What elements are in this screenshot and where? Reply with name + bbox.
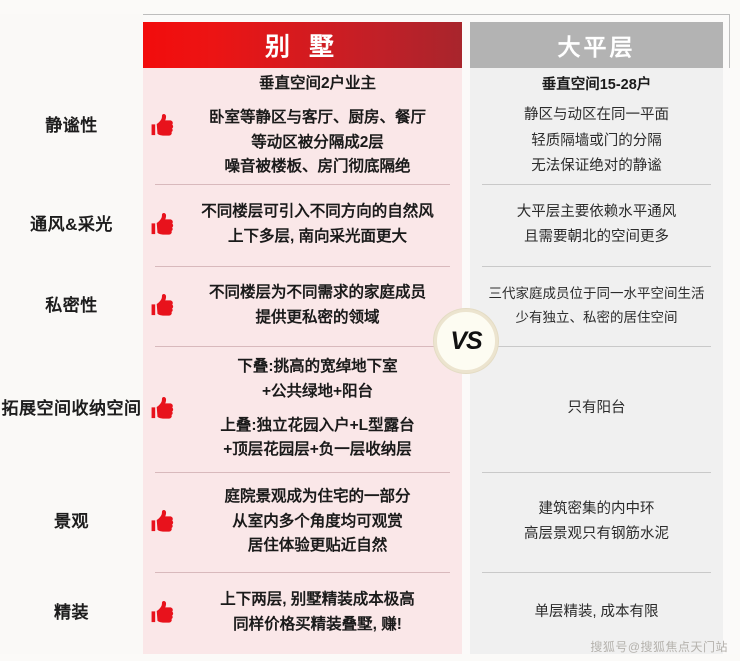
flat-line: 单层精装, 成本有限	[534, 600, 658, 625]
villa-body-a: 下叠:挑高的宽绰地下室 +公共绿地+阳台	[183, 355, 452, 405]
table-row: 拓展空间收纳空间 下叠:挑高的宽绰地下室 +公共绿地+阳台 上叠:独立花园入户+…	[0, 346, 740, 472]
villa-cell: 不同楼层为不同需求的家庭成员 提供更私密的领域	[143, 266, 462, 346]
flat-line: 静区与动区在同一平面	[524, 103, 669, 128]
flat-cell-text: 单层精装, 成本有限	[526, 600, 666, 625]
column-gap	[462, 68, 470, 184]
flat-column-header: 大平层	[470, 22, 723, 68]
row-tail	[723, 184, 740, 266]
villa-cell-text: 垂直空间2户业主 卧室等静区与客厅、厨房、餐厅 等动区被分隔成2层 噪音被楼板、…	[183, 72, 462, 180]
flat-cell-text: 建筑密集的内中环 高层景观只有钢筋水泥	[516, 497, 677, 548]
villa-line: 同样价格买精装叠墅, 赚!	[183, 613, 452, 638]
row-label: 精装	[0, 572, 143, 654]
row-label-line: 精装	[54, 602, 89, 625]
villa-cell-text: 上下两层, 别墅精装成本极高 同样价格买精装叠墅, 赚!	[183, 588, 462, 638]
flat-cell: 垂直空间15-28户 静区与动区在同一平面 轻质隔墙或门的分隔 无法保证绝对的静…	[470, 68, 723, 184]
column-gap	[462, 184, 470, 266]
villa-cell: 上下两层, 别墅精装成本极高 同样价格买精装叠墅, 赚!	[143, 572, 462, 654]
villa-line: 下叠:挑高的宽绰地下室	[183, 355, 452, 380]
villa-body-b: 上叠:独立花园入户+L型露台 +顶层花园层+负一层收纳层	[183, 414, 452, 464]
flat-cell: 三代家庭成员位于同一水平空间生活 少有独立、私密的居住空间	[470, 266, 723, 346]
villa-column-header: 别 墅	[143, 22, 462, 68]
flat-lead-line: 垂直空间15-28户	[524, 73, 669, 98]
villa-body: 卧室等静区与客厅、厨房、餐厅 等动区被分隔成2层 噪音被楼板、房门彻底隔绝	[183, 106, 452, 180]
villa-body: 不同楼层为不同需求的家庭成员 提供更私密的领域	[183, 281, 452, 331]
row-label: 拓展空间收纳空间	[0, 346, 143, 472]
row-tail	[723, 346, 740, 472]
villa-cell-text: 庭院景观成为住宅的一部分 从室内多个角度均可观赏 居住体验更贴近自然	[183, 485, 462, 559]
villa-lead-line: 垂直空间2户业主	[183, 72, 452, 97]
table-row: 景观 庭院景观成为住宅的一部分 从室内多个角度均可观赏 居住体验更贴近自然	[0, 472, 740, 572]
thumbs-up-icon	[143, 211, 183, 239]
villa-cell: 垂直空间2户业主 卧室等静区与客厅、厨房、餐厅 等动区被分隔成2层 噪音被楼板、…	[143, 68, 462, 184]
villa-line: 上下两层, 别墅精装成本极高	[183, 588, 452, 613]
table-row: 静谧性 垂直空间2户业主 卧室等静区与客厅、厨房、餐厅 等动区被分隔成2层 噪音…	[0, 68, 740, 184]
villa-line: +顶层花园层+负一层收纳层	[183, 438, 452, 463]
flat-cell-text: 三代家庭成员位于同一水平空间生活 少有独立、私密的居住空间	[481, 282, 713, 329]
thumbs-up-icon	[143, 508, 183, 536]
column-gap	[462, 472, 470, 572]
row-label-line: 拓展空间	[2, 398, 72, 421]
thumbs-up-icon	[143, 112, 183, 140]
flat-line: 轻质隔墙或门的分隔	[524, 129, 669, 154]
flat-line: 建筑密集的内中环	[524, 497, 669, 522]
vs-badge: VS	[434, 309, 498, 373]
flat-line: 三代家庭成员位于同一水平空间生活	[489, 282, 705, 306]
villa-cell: 不同楼层可引入不同方向的自然风 上下多层, 南向采光面更大	[143, 184, 462, 266]
villa-body: 庭院景观成为住宅的一部分 从室内多个角度均可观赏 居住体验更贴近自然	[183, 485, 452, 559]
row-label-line: 通风&采光	[30, 214, 113, 237]
villa-cell-text: 不同楼层为不同需求的家庭成员 提供更私密的领域	[183, 281, 462, 331]
flat-cell: 建筑密集的内中环 高层景观只有钢筋水泥	[470, 472, 723, 572]
villa-line: 不同楼层可引入不同方向的自然风	[183, 200, 452, 225]
villa-line: 等动区被分隔成2层	[183, 131, 452, 156]
row-label: 静谧性	[0, 68, 143, 184]
comparison-table: 静谧性 垂直空间2户业主 卧室等静区与客厅、厨房、餐厅 等动区被分隔成2层 噪音…	[0, 68, 740, 654]
flat-cell-text: 大平层主要依赖水平通风 且需要朝北的空间更多	[509, 200, 685, 251]
villa-body: 上下两层, 别墅精装成本极高 同样价格买精装叠墅, 赚!	[183, 588, 452, 638]
row-label-line: 静谧性	[45, 115, 98, 138]
villa-line: 噪音被楼板、房门彻底隔绝	[183, 155, 452, 180]
villa-line: 上下多层, 南向采光面更大	[183, 225, 452, 250]
flat-cell: 只有阳台	[470, 346, 723, 472]
comparison-infographic: 别 墅 大平层 静谧性 垂直空间2户业主 卧室等静区与客厅、厨房、餐厅 等动区被…	[0, 0, 740, 661]
villa-body: 不同楼层可引入不同方向的自然风 上下多层, 南向采光面更大	[183, 200, 452, 250]
flat-line: 只有阳台	[568, 396, 626, 421]
flat-cell-text: 垂直空间15-28户 静区与动区在同一平面 轻质隔墙或门的分隔 无法保证绝对的静…	[516, 73, 677, 180]
row-label-line: 景观	[54, 511, 89, 534]
villa-line: 庭院景观成为住宅的一部分	[183, 485, 452, 510]
row-label-line: 收纳空间	[72, 398, 142, 421]
villa-line: 不同楼层为不同需求的家庭成员	[183, 281, 452, 306]
row-label: 通风&采光	[0, 184, 143, 266]
thumbs-up-icon	[143, 292, 183, 320]
thumbs-up-icon	[143, 395, 183, 423]
villa-line: 卧室等静区与客厅、厨房、餐厅	[183, 106, 452, 131]
row-label: 私密性	[0, 266, 143, 346]
column-gap	[462, 572, 470, 654]
row-tail	[723, 266, 740, 346]
villa-line: +公共绿地+阳台	[183, 380, 452, 405]
flat-cell: 大平层主要依赖水平通风 且需要朝北的空间更多	[470, 184, 723, 266]
villa-line: 居住体验更贴近自然	[183, 534, 452, 559]
villa-line: 提供更私密的领域	[183, 306, 452, 331]
row-label-line: 私密性	[45, 295, 98, 318]
villa-cell: 庭院景观成为住宅的一部分 从室内多个角度均可观赏 居住体验更贴近自然	[143, 472, 462, 572]
table-row: 私密性 不同楼层为不同需求的家庭成员 提供更私密的领域	[0, 266, 740, 346]
flat-cell-text: 只有阳台	[560, 396, 634, 421]
villa-cell-text: 不同楼层可引入不同方向的自然风 上下多层, 南向采光面更大	[183, 200, 462, 250]
flat-line: 无法保证绝对的静谧	[524, 154, 669, 179]
flat-line: 且需要朝北的空间更多	[517, 225, 677, 250]
watermark: 搜狐号@搜狐焦点天门站	[590, 638, 728, 655]
flat-line: 少有独立、私密的居住空间	[489, 306, 705, 330]
row-tail	[723, 472, 740, 572]
thumbs-up-icon	[143, 599, 183, 627]
row-tail	[723, 68, 740, 184]
villa-line: 上叠:独立花园入户+L型露台	[183, 414, 452, 439]
villa-line: 从室内多个角度均可观赏	[183, 510, 452, 535]
villa-cell-text: 下叠:挑高的宽绰地下室 +公共绿地+阳台 上叠:独立花园入户+L型露台 +顶层花…	[183, 355, 462, 463]
flat-line: 大平层主要依赖水平通风	[517, 200, 677, 225]
flat-line: 高层景观只有钢筋水泥	[524, 522, 669, 547]
row-label: 景观	[0, 472, 143, 572]
villa-cell: 下叠:挑高的宽绰地下室 +公共绿地+阳台 上叠:独立花园入户+L型露台 +顶层花…	[143, 346, 462, 472]
table-row: 通风&采光 不同楼层可引入不同方向的自然风 上下多层, 南向采光面更大	[0, 184, 740, 266]
